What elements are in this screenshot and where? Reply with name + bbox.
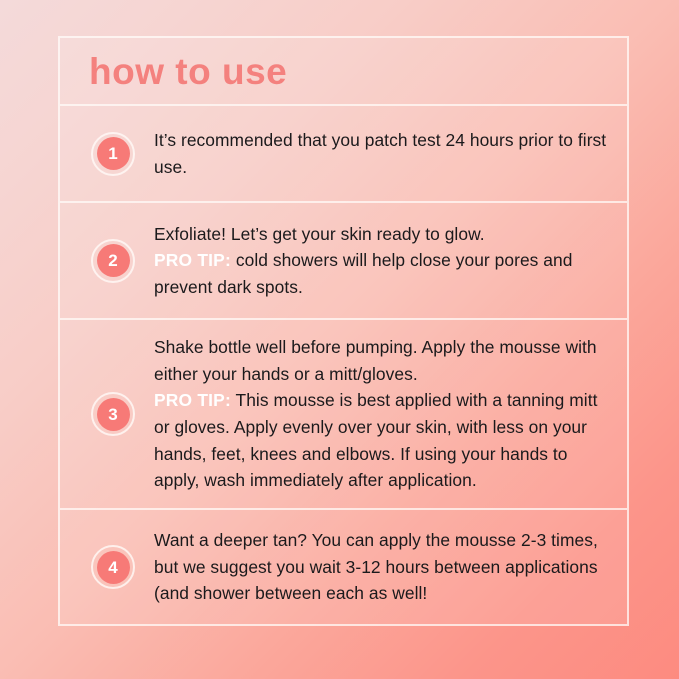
step-item-4: 4 Want a deeper tan? You can apply the m… [60, 510, 627, 624]
step-3-protip-label: PRO TIP: [154, 390, 231, 410]
step-1-body: It’s recommended that you patch test 24 … [146, 127, 613, 180]
steps-list: 1 It’s recommended that you patch test 2… [60, 106, 627, 624]
poster-canvas: how to use 1 It’s recommended that you p… [0, 0, 679, 679]
step-number-label: 3 [108, 406, 117, 423]
step-1-text: It’s recommended that you patch test 24 … [154, 127, 609, 180]
step-item-2: 2 Exfoliate! Let’s get your skin ready t… [60, 203, 627, 320]
step-3-text: Shake bottle well before pumping. Apply … [154, 334, 609, 387]
step-number-badge: 2 [91, 239, 135, 283]
step-3-badge-wrap: 3 [80, 392, 146, 436]
step-number-badge: 4 [91, 545, 135, 589]
step-4-text: Want a deeper tan? You can apply the mou… [154, 527, 609, 607]
step-number-badge: 3 [91, 392, 135, 436]
step-1-badge-wrap: 1 [80, 132, 146, 176]
page-title: how to use [89, 53, 287, 90]
step-2-body: Exfoliate! Let’s get your skin ready to … [146, 221, 613, 301]
step-2-protip-line: PRO TIP: cold showers will help close yo… [154, 247, 609, 300]
step-item-1: 1 It’s recommended that you patch test 2… [60, 106, 627, 203]
step-3-body: Shake bottle well before pumping. Apply … [146, 334, 613, 494]
card-header: how to use [60, 38, 627, 106]
step-number-label: 2 [108, 252, 117, 269]
step-3-protip-line: PRO TIP: This mousse is best applied wit… [154, 387, 609, 493]
step-2-badge-wrap: 2 [80, 239, 146, 283]
step-4-body: Want a deeper tan? You can apply the mou… [146, 527, 613, 607]
step-number-label: 4 [108, 559, 117, 576]
step-number-badge: 1 [91, 132, 135, 176]
how-to-use-card: how to use 1 It’s recommended that you p… [58, 36, 629, 626]
step-4-badge-wrap: 4 [80, 545, 146, 589]
step-2-text: Exfoliate! Let’s get your skin ready to … [154, 221, 609, 248]
step-2-protip-label: PRO TIP: [154, 250, 231, 270]
step-number-label: 1 [108, 145, 117, 162]
step-item-3: 3 Shake bottle well before pumping. Appl… [60, 320, 627, 510]
